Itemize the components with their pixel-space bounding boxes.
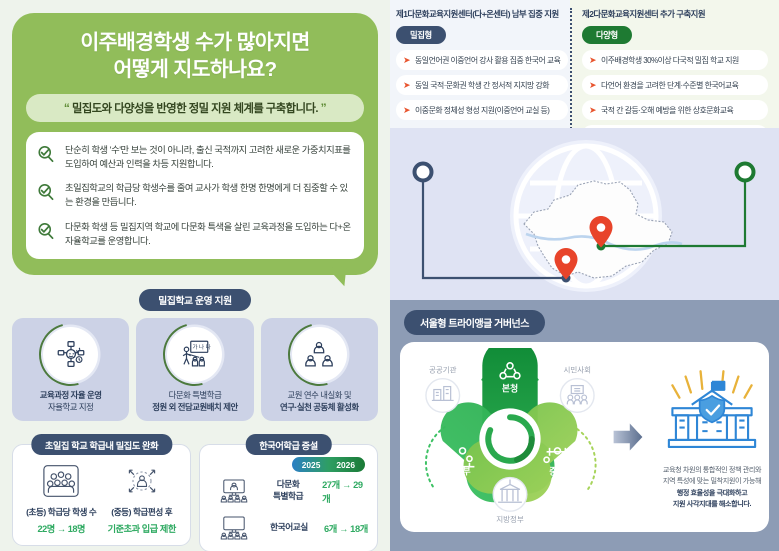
chevron-down-icon: ➤ bbox=[403, 106, 410, 115]
governance-title: 서울형 트라이앵글 거버넌스 bbox=[404, 310, 545, 335]
curriculum-icon bbox=[43, 327, 98, 382]
korean-class-row: 다문화 특별학급 27개 → 29개 bbox=[208, 477, 369, 505]
support-card-line2: 연구·실천 공동체 활성화 bbox=[280, 402, 359, 412]
hero-bullet-text: 다문화 학생 등 밀집지역 학교에 다문화 특색을 살린 교육과정을 도입하는 … bbox=[65, 220, 352, 248]
check-magnifier-icon bbox=[36, 144, 56, 164]
density-value: 기준초과 입급 제한 bbox=[102, 521, 183, 535]
governance-card: 본청 남부 중부 공공기관 bbox=[400, 342, 769, 532]
korean-class-name: 한국어교실 bbox=[263, 522, 315, 534]
ribbon-from-year: 2025 bbox=[302, 460, 321, 470]
density-box: 초일집 학교 학급내 밀집도 완화 bbox=[12, 434, 191, 551]
density-caption: (중등) 학급편성 후 bbox=[102, 506, 183, 518]
governance-outer-label-0: 공공기관 bbox=[429, 365, 457, 375]
chevron-down-icon: ➤ bbox=[589, 106, 596, 115]
density-col-elementary: (초등) 학급당 학생 수 22명 → 18명 bbox=[21, 461, 102, 535]
hero-speech-bubble: 이주배경학생 수가 많아지면 어떻게 지도하나요? “ 밀집도와 다양성을 반영… bbox=[12, 13, 378, 275]
left-panel: 이주배경학생 수가 많아지면 어떻게 지도하나요? “ 밀집도와 다양성을 반영… bbox=[0, 0, 390, 551]
support-card-special-class[interactable]: 가 나 다 다문화 특별학급 정원 외 전담교원배치 제안 bbox=[136, 318, 253, 421]
classroom-screen-icon bbox=[214, 515, 254, 541]
center-card-1-badge: 밀집형 bbox=[396, 26, 446, 44]
korean-class-box-title: 한국어학급 증설 bbox=[245, 434, 332, 455]
quote-open-icon: “ bbox=[64, 101, 70, 115]
density-box-title: 초일집 학교 학급내 밀집도 완화 bbox=[31, 434, 172, 455]
support-card-curriculum[interactable]: 교육과정 자율 운영 자율학교 지정 bbox=[12, 318, 129, 421]
governance-desc-line: 지원 사각지대를 해소합니다. bbox=[673, 500, 751, 508]
classroom-screen-icon bbox=[214, 478, 254, 504]
center-item-text: 이중문화 정체성 형성 지원(이중언어 교실 등) bbox=[415, 105, 549, 116]
chevron-down-icon: ➤ bbox=[589, 56, 596, 65]
crowded-class-icon bbox=[21, 461, 102, 501]
hero-subtitle-pill: “ 밀집도와 다양성을 반영한 정밀 지원 체계를 구축합니다. ” bbox=[26, 94, 364, 122]
map-connectors bbox=[390, 128, 779, 300]
governance-node-label-left: 남부 bbox=[454, 466, 470, 477]
korean-class-value: 6개 → 18개 bbox=[324, 521, 368, 535]
governance-desc-line: 행정 효율성을 극대화하고 bbox=[677, 489, 748, 497]
center-card-1-item: ➤ 동일언어권 이중언어 강사 활용 집중 한국어 교육 bbox=[396, 50, 568, 70]
governance-result: 교육청 차원의 통합적인 정책 관리와 지역 특성에 맞는 밀착지원이 가능해 … bbox=[646, 364, 778, 511]
support-card-line2: 자율학교 지정 bbox=[48, 402, 93, 412]
center-card-1-heading: 제1다문화교육지원센터(다+온센터) 남부 집중 지원 bbox=[396, 8, 568, 20]
governance-desc-line: 지역 특성에 맞는 밀착지원이 가능해 bbox=[646, 476, 778, 487]
center-card-1-item: ➤ 이중문화 정체성 형성 지원(이중언어 교실 등) bbox=[396, 100, 568, 120]
korean-class-value: 27개 → 29개 bbox=[322, 477, 369, 505]
support-card-line2: 정원 외 전담교원배치 제안 bbox=[152, 402, 237, 412]
arrow-right-icon bbox=[610, 419, 646, 455]
korean-class-box: 한국어학급 증설 2025 2026 bbox=[199, 434, 378, 551]
density-col-middle: (중등) 학급편성 후 기준초과 입급 제한 bbox=[102, 461, 183, 535]
hero-bullet-card: 단순히 학생 '수'만 보는 것이 아니라, 출신 국적까지 고려한 새로운 가… bbox=[26, 132, 364, 259]
center-item-text: 동일 국적·문화권 학생 간 정서적 지지망 강화 bbox=[415, 80, 549, 91]
check-magnifier-icon bbox=[36, 221, 56, 241]
hero-title-line-1: 이주배경학생 수가 많아지면 bbox=[26, 29, 364, 56]
support-card-label: 교육과정 자율 운영 자율학교 지정 bbox=[16, 389, 125, 413]
right-panel: 제1다문화교육지원센터(다+온센터) 남부 집중 지원 밀집형 ➤ 동일언어권 … bbox=[390, 0, 779, 551]
center-item-text: 이주배경학생 30%이상 다국적 밀집 학교 지원 bbox=[601, 55, 739, 66]
support-card-label: 교원 연수 내실화 및 연구·실천 공동체 활성화 bbox=[265, 389, 374, 413]
korean-class-name-line1: 다문화 bbox=[277, 479, 300, 489]
density-box-body: (초등) 학급당 학생 수 22명 → 18명 bbox=[12, 444, 191, 546]
speech-bubble-tail bbox=[328, 266, 350, 288]
center-item-text: 동일언어권 이중언어 강사 활용 집중 한국어 교육 bbox=[415, 55, 560, 66]
chevron-down-icon: ➤ bbox=[403, 56, 410, 65]
hero-title: 이주배경학생 수가 많아지면 어떻게 지도하나요? bbox=[26, 29, 364, 83]
hero-bullet-text: 단순히 학생 '수'만 보는 것이 아니라, 출신 국적까지 고려한 새로운 가… bbox=[65, 143, 352, 171]
korean-class-name-line2: 특별학급 bbox=[273, 491, 303, 501]
hero-bullet-item: 단순히 학생 '수'만 보는 것이 아니라, 출신 국적까지 고려한 새로운 가… bbox=[36, 143, 352, 171]
center-card-2-item: ➤ 이주배경학생 30%이상 다국적 밀집 학교 지원 bbox=[582, 50, 768, 70]
center-card-2-heading: 제2다문화교육지원센터 추가 구축지원 bbox=[582, 8, 768, 20]
support-cards-row: 교육과정 자율 운영 자율학교 지정 가 나 다 다문화 특 bbox=[12, 318, 378, 421]
governance-triangle-diagram: 본청 남부 중부 공공기관 bbox=[410, 348, 610, 526]
support-card-line1: 교육과정 자율 운영 bbox=[40, 390, 102, 400]
center-item-text: 국적 간 갈등·오해 예방을 위한 상호문화교육 bbox=[601, 105, 733, 116]
density-caption: (초등) 학급당 학생 수 bbox=[21, 506, 102, 518]
support-card-label: 다문화 특별학급 정원 외 전담교원배치 제안 bbox=[140, 389, 249, 413]
infographic-page: 이주배경학생 수가 많아지면 어떻게 지도하나요? “ 밀집도와 다양성을 반영… bbox=[0, 0, 779, 551]
disperse-icon bbox=[102, 461, 183, 501]
support-card-line1: 교원 연수 내실화 및 bbox=[287, 390, 351, 400]
governance-outer-label-1: 시민사회 bbox=[563, 365, 591, 375]
governance-outer-label-2: 지방정부 bbox=[496, 514, 524, 524]
korean-class-row: 한국어교실 6개 → 18개 bbox=[208, 515, 369, 541]
support-section-title: 밀집학교 운영 지원 bbox=[139, 289, 251, 311]
support-card-line1: 다문화 특별학급 bbox=[169, 390, 222, 400]
triangle-nodes-svg: 본청 남부 중부 공공기관 bbox=[410, 348, 610, 526]
svg-text:가 나 다: 가 나 다 bbox=[192, 343, 210, 351]
center-card-2-item: ➤ 다언어 환경을 고려한 단계·수준별 한국어교육 bbox=[582, 75, 768, 95]
korean-class-name: 다문화 특별학급 bbox=[263, 479, 313, 502]
density-value: 22명 → 18명 bbox=[21, 521, 102, 535]
check-magnifier-icon bbox=[36, 182, 56, 202]
center-card-2-badge: 다양형 bbox=[582, 26, 632, 44]
ribbon-to-year: 2026 bbox=[336, 460, 355, 470]
centers-section: 제1다문화교육지원센터(다+온센터) 남부 집중 지원 밀집형 ➤ 동일언어권 … bbox=[390, 0, 779, 300]
governance-node-label-right: 중부 bbox=[549, 467, 565, 477]
governance-desc-line: 교육청 차원의 통합적인 정책 관리와 bbox=[646, 465, 778, 476]
teachers-network-icon bbox=[292, 327, 347, 382]
governance-node-label-top: 본청 bbox=[502, 383, 518, 394]
governance-section: 서울형 트라이앵글 거버넌스 bbox=[390, 300, 779, 551]
center-card-1-item: ➤ 동일 국적·문화권 학생 간 정서적 지지망 강화 bbox=[396, 75, 568, 95]
hero-subtitle-text: 밀집도와 다양성을 반영한 정밀 지원 체계를 구축합니다. bbox=[72, 103, 318, 115]
hero-bullet-text: 초일집학교의 학급당 학생수를 줄여 교사가 학생 한명 한명에게 더 집중할 … bbox=[65, 181, 352, 209]
quote-close-icon: ” bbox=[321, 101, 327, 115]
chevron-down-icon: ➤ bbox=[589, 81, 596, 90]
year-ribbon: 2025 2026 bbox=[208, 457, 369, 472]
seoul-map-area bbox=[390, 128, 779, 300]
center-card-2-item: ➤ 국적 간 갈등·오해 예방을 위한 상호문화교육 bbox=[582, 100, 768, 120]
center-card-1: 제1다문화교육지원센터(다+온센터) 남부 집중 지원 밀집형 ➤ 동일언어권 … bbox=[396, 8, 568, 125]
support-section-header: 밀집학교 운영 지원 bbox=[12, 289, 378, 311]
hero-bullet-item: 초일집학교의 학급당 학생수를 줄여 교사가 학생 한명 한명에게 더 집중할 … bbox=[36, 181, 352, 209]
stats-row: 초일집 학교 학급내 밀집도 완화 bbox=[12, 434, 378, 551]
hero-bullet-item: 다문화 학생 등 밀집지역 학교에 다문화 특색을 살린 교육과정을 도입하는 … bbox=[36, 220, 352, 248]
vertical-dotted-divider bbox=[570, 8, 572, 133]
school-shield-icon bbox=[646, 364, 778, 456]
korean-class-body: 2025 2026 bbox=[199, 444, 378, 551]
governance-description: 교육청 차원의 통합적인 정책 관리와 지역 특성에 맞는 밀착지원이 가능해 … bbox=[646, 465, 778, 511]
classroom-icon: 가 나 다 bbox=[167, 327, 222, 382]
hero-title-line-2: 어떻게 지도하나요? bbox=[26, 56, 364, 83]
support-card-teacher-training[interactable]: 교원 연수 내실화 및 연구·실천 공동체 활성화 bbox=[261, 318, 378, 421]
center-item-text: 다언어 환경을 고려한 단계·수준별 한국어교육 bbox=[601, 80, 738, 91]
chevron-down-icon: ➤ bbox=[403, 81, 410, 90]
